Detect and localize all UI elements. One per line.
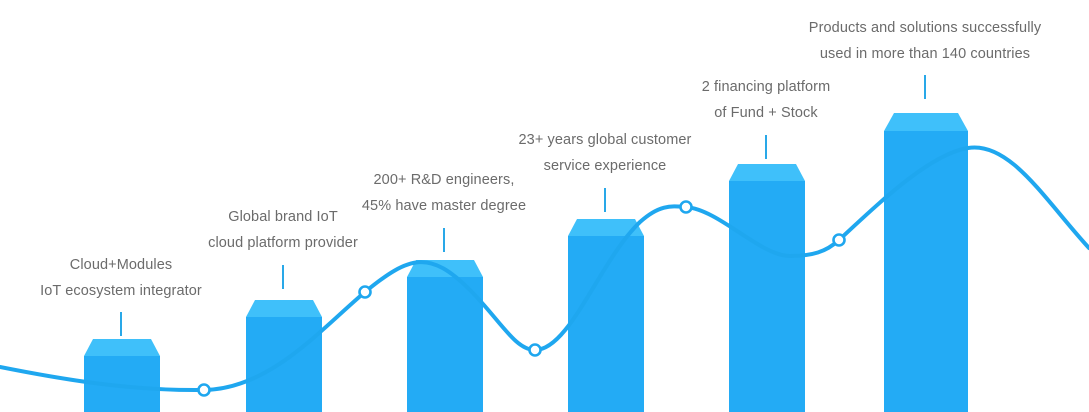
bar-top-face [246, 300, 322, 317]
bar-5 [729, 164, 805, 412]
bar-3 [407, 260, 483, 412]
curve-marker-2 [360, 287, 371, 298]
callout-label-6-line-2: used in more than 140 countries [790, 41, 1060, 67]
curve-marker-3 [530, 345, 541, 356]
bar-top-face [729, 164, 805, 181]
bar-2 [246, 300, 322, 412]
callout-label-2-line-1: Global brand IoT [189, 204, 377, 230]
callout-label-2: Global brand IoTcloud platform provider [189, 204, 377, 256]
callout-label-4: 23+ years global customerservice experie… [505, 127, 705, 179]
callout-label-4-line-1: 23+ years global customer [505, 127, 705, 153]
curve-marker-4 [681, 202, 692, 213]
callout-label-5-line-2: of Fund + Stock [672, 100, 860, 126]
curve-marker-1 [199, 385, 210, 396]
curve-marker-5 [834, 235, 845, 246]
bar-6 [884, 113, 968, 412]
bar-top-face [884, 113, 968, 131]
callout-label-1: Cloud+ModulesIoT ecosystem integrator [27, 252, 215, 304]
bar-front-face [729, 181, 805, 412]
callout-label-3-line-2: 45% have master degree [350, 193, 538, 219]
callout-label-1-line-1: Cloud+Modules [27, 252, 215, 278]
callout-label-4-line-2: service experience [505, 153, 705, 179]
bar-4 [568, 219, 644, 412]
callout-label-1-line-2: IoT ecosystem integrator [27, 278, 215, 304]
callout-label-6: Products and solutions successfullyused … [790, 15, 1060, 67]
infographic-chart: Cloud+ModulesIoT ecosystem integratorGlo… [0, 0, 1089, 412]
callout-label-5: 2 financing platformof Fund + Stock [672, 74, 860, 126]
bar-1 [84, 339, 160, 412]
callout-label-5-line-1: 2 financing platform [672, 74, 860, 100]
callout-label-6-line-1: Products and solutions successfully [790, 15, 1060, 41]
callout-label-2-line-2: cloud platform provider [189, 230, 377, 256]
bar-front-face [407, 277, 483, 412]
bar-front-face [246, 317, 322, 412]
bar-top-face [84, 339, 160, 356]
bar-front-face [568, 236, 644, 412]
bar-front-face [884, 131, 968, 412]
